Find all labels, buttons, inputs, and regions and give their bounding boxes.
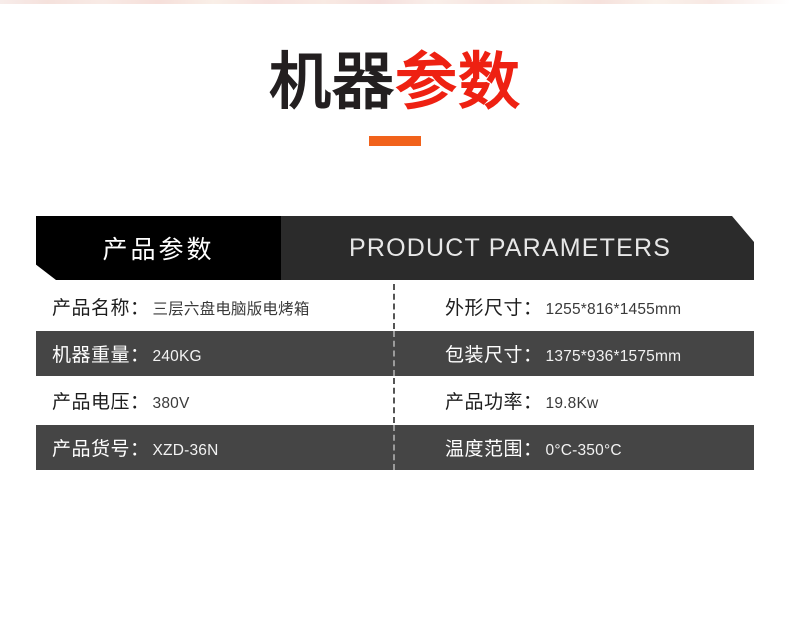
table-row: 产品货号： XZD-36N 温度范围： 0°C-350°C bbox=[36, 425, 754, 470]
param-label: 产品功率： bbox=[445, 387, 543, 414]
top-decorative-strip bbox=[0, 0, 790, 4]
column-divider bbox=[393, 378, 395, 423]
parameter-rows: 产品名称： 三层六盘电脑版电烤箱 外形尺寸： 1255*816*1455mm 机… bbox=[36, 284, 754, 470]
param-value: 三层六盘电脑版电烤箱 bbox=[153, 297, 310, 319]
column-divider bbox=[393, 425, 395, 470]
param-value: 380V bbox=[153, 395, 190, 413]
param-label: 温度范围： bbox=[445, 434, 543, 461]
page-title: 机器参数 bbox=[0, 46, 790, 146]
product-parameters-panel: 产品参数 PRODUCT PARAMETERS 产品名称： 三层六盘电脑版电烤箱… bbox=[36, 216, 754, 470]
param-cell-right: 产品功率： 19.8Kw bbox=[393, 387, 754, 414]
param-value: 1255*816*1455mm bbox=[546, 301, 682, 319]
param-value: 1375*936*1575mm bbox=[546, 348, 682, 366]
panel-header-en-block: PRODUCT PARAMETERS bbox=[281, 216, 754, 280]
param-cell-right: 包装尺寸： 1375*936*1575mm bbox=[393, 340, 754, 367]
panel-header: 产品参数 PRODUCT PARAMETERS bbox=[36, 216, 754, 280]
param-label: 包装尺寸： bbox=[445, 340, 543, 367]
param-label: 产品货号： bbox=[52, 434, 150, 461]
param-value: 0°C-350°C bbox=[546, 442, 622, 460]
column-divider bbox=[393, 331, 395, 376]
param-label: 外形尺寸： bbox=[445, 293, 543, 320]
title-underline-bar bbox=[369, 136, 421, 146]
param-cell-right: 温度范围： 0°C-350°C bbox=[393, 434, 754, 461]
page-title-part-dark: 机器 bbox=[269, 45, 395, 118]
panel-header-en-label: PRODUCT PARAMETERS bbox=[281, 234, 671, 263]
param-value: 19.8Kw bbox=[546, 395, 599, 413]
table-row: 产品名称： 三层六盘电脑版电烤箱 外形尺寸： 1255*816*1455mm bbox=[36, 284, 754, 329]
page-title-text: 机器参数 bbox=[0, 46, 790, 118]
param-label: 产品电压： bbox=[52, 387, 150, 414]
panel-header-cn-label: 产品参数 bbox=[102, 230, 214, 266]
param-label: 产品名称： bbox=[52, 293, 150, 320]
table-row: 机器重量： 240KG 包装尺寸： 1375*936*1575mm bbox=[36, 331, 754, 376]
param-cell-left: 产品电压： 380V bbox=[36, 387, 393, 414]
panel-header-cn-block: 产品参数 bbox=[36, 216, 281, 280]
param-cell-left: 产品名称： 三层六盘电脑版电烤箱 bbox=[36, 293, 393, 320]
param-label: 机器重量： bbox=[52, 340, 150, 367]
table-row: 产品电压： 380V 产品功率： 19.8Kw bbox=[36, 378, 754, 423]
column-divider bbox=[393, 284, 395, 329]
param-cell-right: 外形尺寸： 1255*816*1455mm bbox=[393, 293, 754, 320]
param-value: 240KG bbox=[153, 348, 202, 366]
param-cell-left: 机器重量： 240KG bbox=[36, 340, 393, 367]
param-value: XZD-36N bbox=[153, 442, 219, 460]
param-cell-left: 产品货号： XZD-36N bbox=[36, 434, 393, 461]
page-title-part-red: 参数 bbox=[395, 45, 521, 118]
